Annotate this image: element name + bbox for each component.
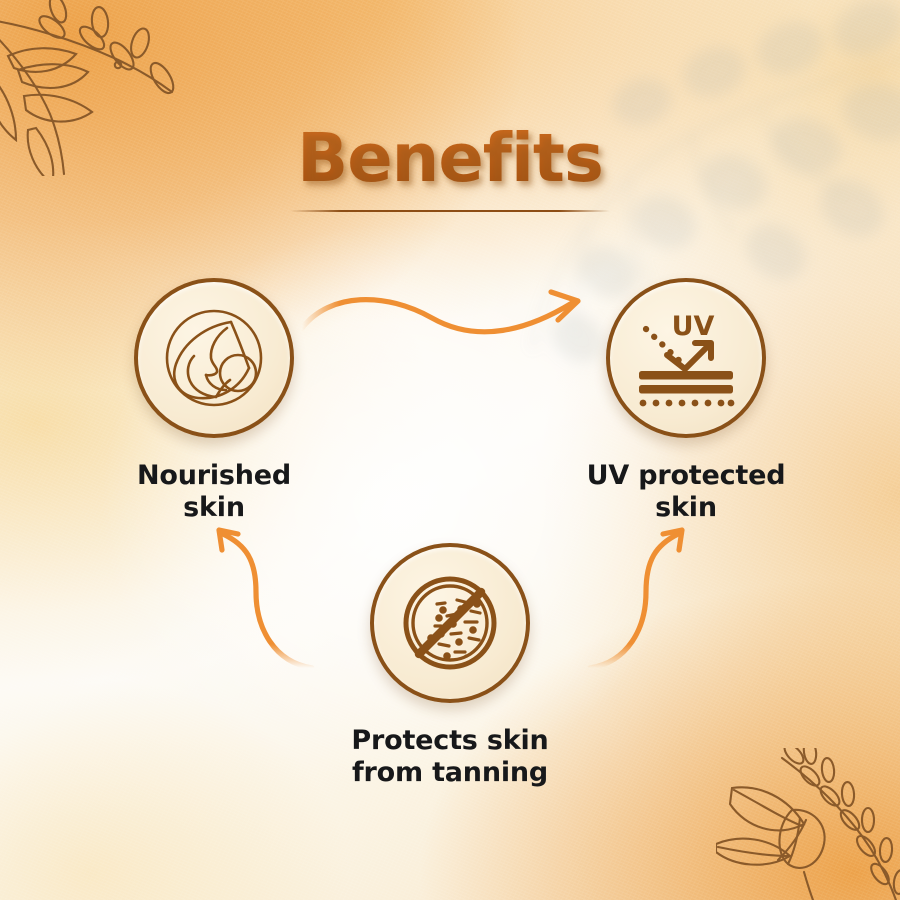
uv-label: UV [672, 311, 715, 342]
benefits-poster: Benefits [0, 0, 900, 900]
benefit-nourished-skin[interactable]: Nourished skin [38, 278, 390, 524]
sprig-bottom-right-icon [716, 748, 900, 900]
title-block: Benefits [0, 124, 900, 212]
skin-layer-bar [639, 385, 733, 394]
no-tanning-icon-circle [370, 543, 530, 703]
benefit-protects-from-tanning[interactable]: Protects skin from tanning [274, 543, 626, 789]
no-tanning-icon [391, 564, 509, 682]
benefit-label: UV protected skin [510, 460, 862, 524]
nourished-skin-icon-circle [134, 278, 294, 438]
uv-protected-skin-icon-circle: UV [606, 278, 766, 438]
benefit-label: Protects skin from tanning [274, 725, 626, 789]
benefit-uv-protected-skin[interactable]: UV [510, 278, 862, 524]
benefit-label: Nourished skin [38, 460, 390, 524]
uv-protected-skin-icon: UV [627, 299, 745, 417]
nourished-skin-icon [154, 298, 274, 418]
page-title: Benefits [297, 124, 603, 194]
skin-layer-bar [639, 371, 733, 380]
skin-dots-row [640, 400, 735, 407]
title-underline [290, 210, 610, 212]
